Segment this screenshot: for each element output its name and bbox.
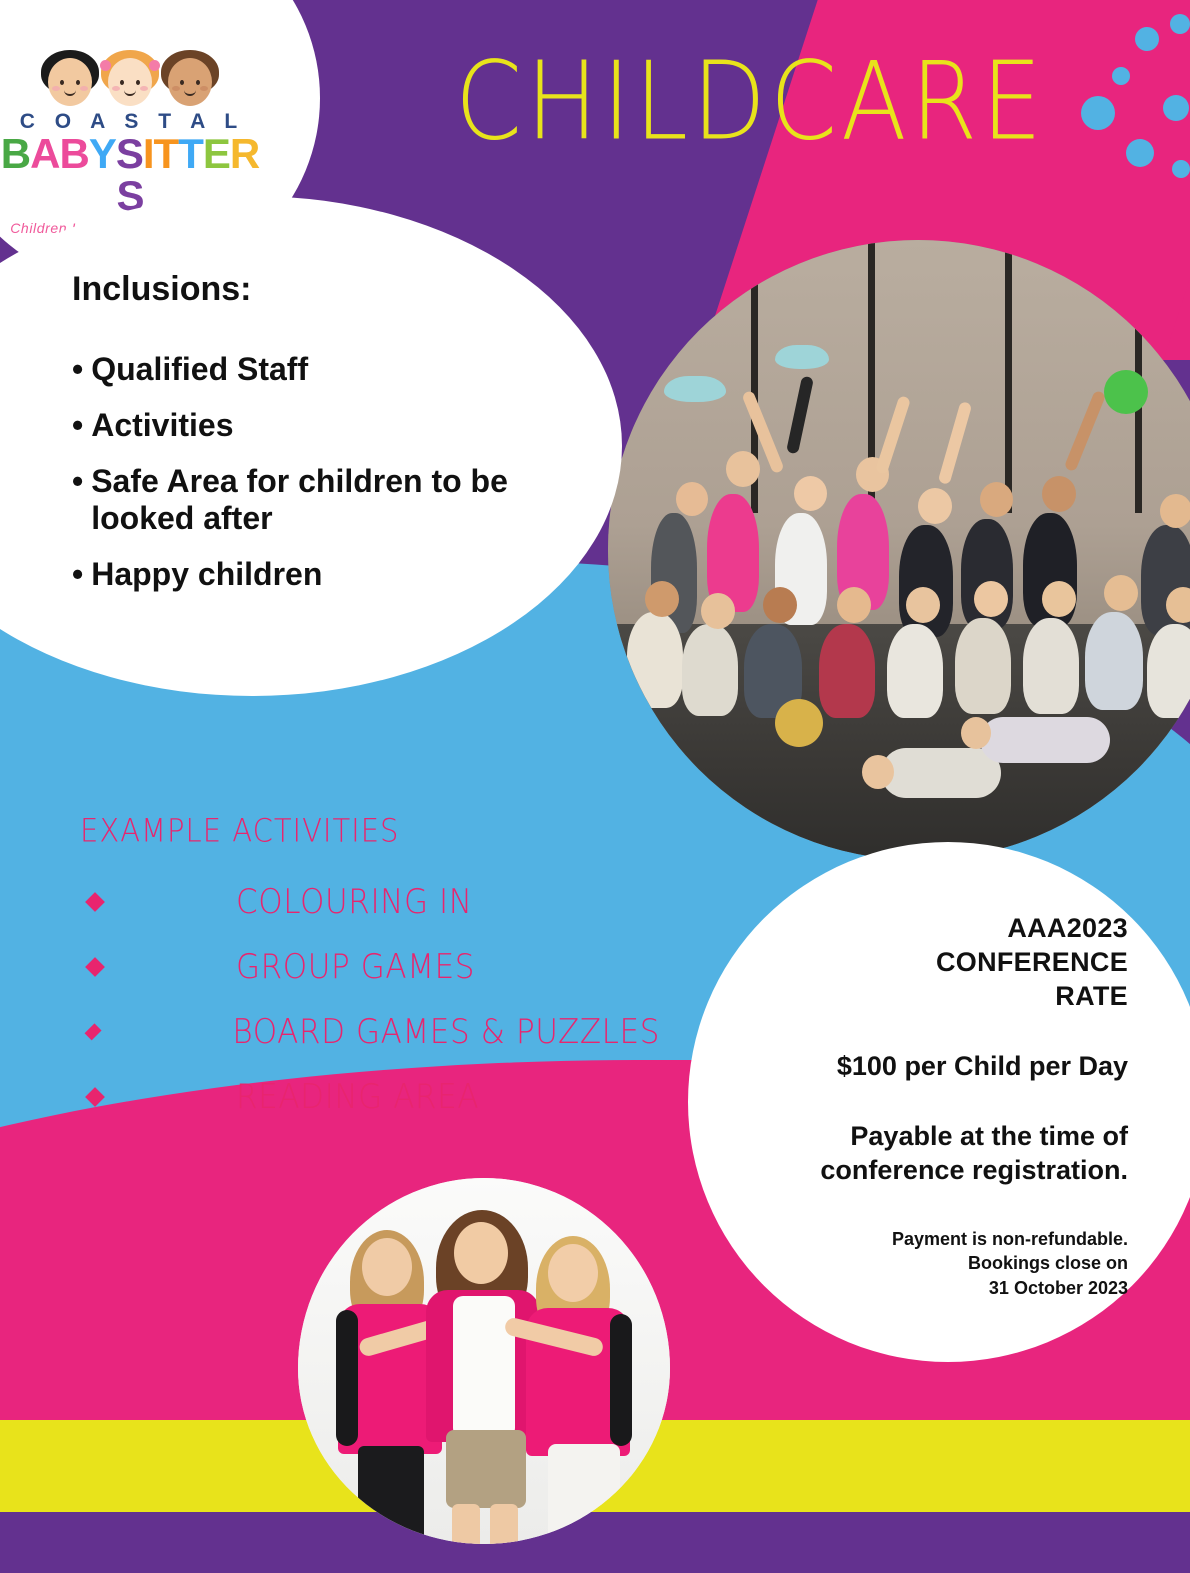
list-item: BOARD GAMES & PUZZLES (80, 1014, 660, 1050)
diamond-bullet-icon (85, 1023, 102, 1040)
fine-print-line: Payment is non-refundable. (730, 1227, 1128, 1251)
photo-person-head (794, 476, 827, 511)
photo-person-head (1104, 575, 1138, 611)
photo-person-head (454, 1222, 508, 1284)
childcare-flyer: C O A S T A L BABYSITTERS Children Love … (0, 0, 1190, 1573)
photo-person-head (548, 1244, 598, 1302)
rate-heading-line: CONFERENCE (730, 946, 1128, 980)
dot-icon (1126, 139, 1154, 167)
list-item-label: Qualified Staff (91, 351, 308, 388)
photo-person-head (763, 587, 797, 623)
conference-rate-section: AAA2023 CONFERENCE RATE $100 per Child p… (730, 912, 1128, 1300)
photo-person (1023, 618, 1079, 714)
photo-person-head (645, 581, 679, 617)
diamond-bullet-icon (85, 1087, 105, 1107)
bullet-icon: • (72, 556, 83, 593)
bullet-icon: • (72, 351, 83, 388)
photo-person-blouse (453, 1296, 515, 1438)
photo-person (682, 624, 738, 716)
staff-team-photo (298, 1178, 670, 1544)
rate-heading-line: AAA2023 (730, 912, 1128, 946)
photo-person-head (906, 587, 940, 623)
list-item-label: COLOURING IN (236, 882, 473, 922)
example-activities-section: EXAMPLE ACTIVITIES COLOURING IN GROUP GA… (80, 812, 660, 1144)
photo-person (627, 612, 683, 708)
photo-person-leg (452, 1504, 480, 1544)
dot-icon (1172, 160, 1190, 178)
list-item-label: Happy children (91, 556, 322, 593)
list-item-label: GROUP GAMES (236, 947, 475, 987)
photo-wall-post (1005, 240, 1012, 513)
bullet-icon: • (72, 407, 83, 444)
photo-person-sleeve (336, 1310, 358, 1446)
rate-note-line: conference registration. (730, 1154, 1128, 1187)
rate-price: $100 per Child per Day (730, 1051, 1128, 1082)
list-item: GROUP GAMES (80, 949, 660, 985)
photo-person-head (862, 755, 894, 789)
rate-payment-note: Payable at the time of conference regist… (730, 1120, 1128, 1187)
green-ball (1104, 370, 1148, 414)
photo-person-shorts (446, 1430, 526, 1508)
dot-icon (1170, 14, 1190, 34)
photo-person-sleeve (610, 1314, 632, 1446)
photo-person-pants (358, 1446, 424, 1544)
photo-person-lying (881, 748, 1001, 798)
kids-group-photo (608, 240, 1190, 860)
dot-icon (1081, 96, 1115, 130)
rate-note-line: Payable at the time of (730, 1120, 1128, 1153)
photo-person-lying (980, 717, 1110, 763)
cloud-decoration (664, 376, 726, 402)
list-item-label: Activities (91, 407, 233, 444)
dot-icon (1163, 95, 1189, 121)
inclusions-title: Inclusions: (72, 270, 542, 309)
child-face-icon (41, 50, 99, 108)
list-item: • Activities (72, 407, 542, 444)
photo-person-head (1042, 476, 1076, 512)
photo-person-head (918, 488, 952, 524)
gold-ball (775, 699, 823, 747)
photo-person-head (726, 451, 760, 487)
photo-person-head (1042, 581, 1076, 617)
photo-person-pants (548, 1444, 620, 1544)
inclusions-section: Inclusions: • Qualified Staff • Activiti… (72, 270, 542, 613)
fine-print-line: 31 October 2023 (730, 1276, 1128, 1300)
bullet-icon: • (72, 463, 83, 537)
logo-children-faces-icon (0, 50, 265, 108)
list-item-label: READING AREA (236, 1077, 479, 1117)
photo-person-head (362, 1238, 412, 1296)
list-item: COLOURING IN (80, 884, 660, 920)
photo-person (955, 618, 1011, 714)
rate-fine-print: Payment is non-refundable. Bookings clos… (730, 1227, 1128, 1300)
photo-person (819, 624, 875, 718)
photo-person (887, 624, 943, 718)
child-face-icon (101, 50, 159, 108)
photo-person-head (974, 581, 1008, 617)
list-item-label: Safe Area for children to be looked afte… (91, 463, 542, 537)
fine-print-line: Bookings close on (730, 1251, 1128, 1275)
list-item: • Safe Area for children to be looked af… (72, 463, 542, 537)
photo-person (1085, 612, 1143, 710)
diamond-bullet-icon (85, 892, 105, 912)
example-activities-title: EXAMPLE ACTIVITIES (80, 812, 660, 849)
photo-person-leg (490, 1504, 518, 1544)
cloud-decoration (775, 345, 829, 369)
photo-person-head (980, 482, 1013, 517)
diamond-bullet-icon (85, 957, 105, 977)
list-item: READING AREA (80, 1079, 660, 1115)
list-item: • Qualified Staff (72, 351, 542, 388)
photo-person-head (676, 482, 708, 516)
dot-icon (1112, 67, 1130, 85)
list-item: • Happy children (72, 556, 542, 593)
child-face-icon (161, 50, 219, 108)
dot-icon (1135, 27, 1159, 51)
photo-person (1147, 624, 1190, 718)
photo-person-head (1160, 494, 1190, 528)
page-title: CHILDCARE (455, 48, 1046, 156)
conference-rate-heading: AAA2023 CONFERENCE RATE (730, 912, 1128, 1013)
list-item-label: BOARD GAMES & PUZZLES (232, 1012, 660, 1052)
rate-heading-line: RATE (730, 980, 1128, 1014)
